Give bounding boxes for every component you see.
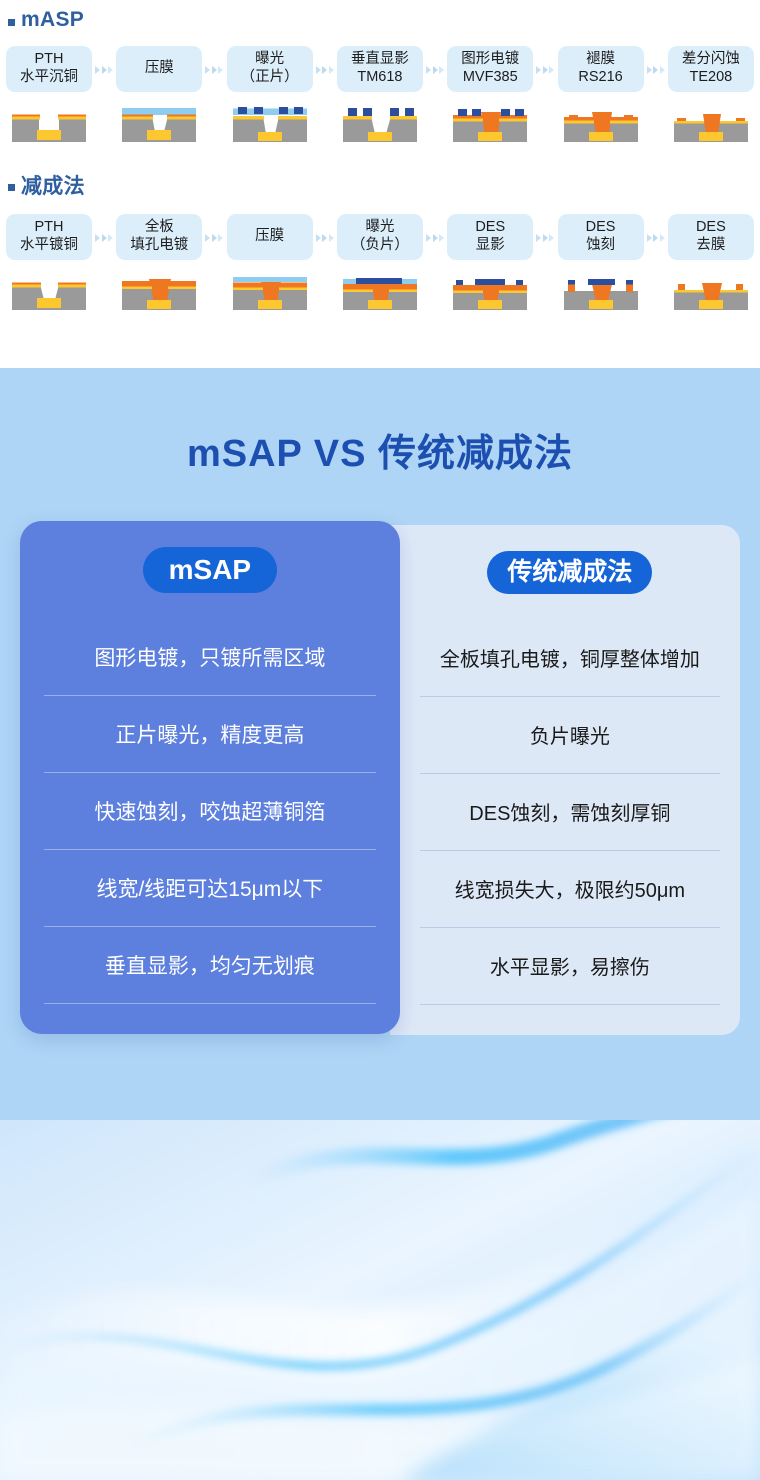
row-separator: [44, 1003, 376, 1004]
step-line1: DES: [586, 219, 616, 237]
card-msap-header: mSAP: [38, 547, 382, 593]
card-msap: mSAP 图形电镀，只镀所需区域 正片曝光，精度更高 快速蚀刻，咬蚀超薄铜箔 线…: [20, 521, 400, 1034]
step-line1: 压膜: [255, 228, 284, 246]
steps-row-msap: PTH 水平沉铜 压膜 曝光 （正片） 垂直: [0, 46, 760, 92]
row-separator: [420, 1004, 720, 1005]
step-line1: 差分闪蚀: [682, 51, 740, 69]
pcb-cross-section-diagram: [337, 272, 423, 316]
comparison-section: mSAP VS 传统减成法 mSAP 图形电镀，只镀所需区域 正片曝光，精度更高…: [0, 368, 760, 1480]
card-subtractive-header: 传统减成法: [416, 551, 724, 594]
step-box: PTH 水平镀铜: [6, 214, 92, 260]
flow-title: mASP: [21, 8, 84, 32]
bullet-square-icon: [8, 184, 15, 191]
arrow-right-icon: [205, 66, 223, 74]
step-line2: 水平沉铜: [20, 69, 78, 87]
flow-header-subtractive: 减成法: [0, 170, 760, 200]
step-cell[interactable]: 曝光 （正片）: [227, 46, 313, 92]
step-box: 全板 填孔电镀: [116, 214, 202, 260]
step-cell[interactable]: 压膜: [227, 214, 313, 260]
step-line1: 曝光: [255, 51, 284, 69]
step-box: DES 去膜: [668, 214, 754, 260]
step-box: 垂直显影 TM618: [337, 46, 423, 92]
arrow-right-icon: [316, 66, 334, 74]
decorative-wave-background: [0, 1120, 760, 1480]
diagrams-row-msap: [0, 104, 760, 148]
pill-badge-subtractive: 传统减成法: [487, 551, 652, 594]
step-line2: TE208: [690, 69, 733, 87]
pcb-cross-section-diagram: [558, 272, 644, 316]
feature-row: 垂直显影，均匀无划痕: [38, 927, 382, 1003]
step-box: 压膜: [116, 46, 202, 92]
pcb-cross-section-diagram: [668, 272, 754, 316]
feature-row: 线宽损失大，极限约50μm: [416, 851, 724, 927]
step-line1: DES: [475, 219, 505, 237]
pcb-cross-section-diagram: [337, 104, 423, 148]
step-line1: 图形电镀: [461, 51, 519, 69]
card-msap-rows: 图形电镀，只镀所需区域 正片曝光，精度更高 快速蚀刻，咬蚀超薄铜箔 线宽/线距可…: [38, 619, 382, 1004]
step-line2: 填孔电镀: [130, 237, 188, 255]
feature-row: 线宽/线距可达15μm以下: [38, 850, 382, 926]
step-cell[interactable]: 差分闪蚀 TE208: [668, 46, 754, 92]
pcb-cross-section-diagram: [447, 104, 533, 148]
pcb-cross-section-diagram: [227, 104, 313, 148]
pcb-cross-section-diagram: [116, 272, 202, 316]
step-cell[interactable]: PTH 水平镀铜: [6, 214, 92, 260]
step-line2: 去膜: [696, 237, 725, 255]
step-box: 差分闪蚀 TE208: [668, 46, 754, 92]
step-line2: RS216: [578, 69, 622, 87]
feature-row: 快速蚀刻，咬蚀超薄铜箔: [38, 773, 382, 849]
pcb-cross-section-diagram: [668, 104, 754, 148]
pcb-cross-section-diagram: [558, 104, 644, 148]
flow-section-subtractive: 减成法 PTH 水平镀铜 全板 填孔电镀 压膜: [0, 148, 760, 316]
step-cell[interactable]: 图形电镀 MVF385: [447, 46, 533, 92]
step-box: PTH 水平沉铜: [6, 46, 92, 92]
comparison-cards: mSAP 图形电镀，只镀所需区域 正片曝光，精度更高 快速蚀刻，咬蚀超薄铜箔 线…: [0, 521, 760, 1035]
step-line2: TM618: [357, 69, 402, 87]
step-cell[interactable]: 曝光 （负片）: [337, 214, 423, 260]
step-cell[interactable]: 全板 填孔电镀: [116, 214, 202, 260]
step-cell[interactable]: 褪膜 RS216: [558, 46, 644, 92]
step-line1: 垂直显影: [351, 51, 409, 69]
pcb-cross-section-diagram: [6, 104, 92, 148]
arrow-right-icon: [95, 234, 113, 242]
arrow-right-icon: [316, 234, 334, 242]
pcb-cross-section-diagram: [447, 272, 533, 316]
flow-section-msap: mASP PTH 水平沉铜 压膜 曝光 （正片）: [0, 0, 760, 148]
step-cell[interactable]: PTH 水平沉铜: [6, 46, 92, 92]
step-cell[interactable]: 垂直显影 TM618: [337, 46, 423, 92]
steps-row-subtractive: PTH 水平镀铜 全板 填孔电镀 压膜 曝光: [0, 214, 760, 260]
feature-row: 负片曝光: [416, 697, 724, 773]
step-box: 压膜: [227, 214, 313, 260]
arrow-right-icon: [647, 66, 665, 74]
step-line2: 蚀刻: [586, 237, 615, 255]
pill-badge-msap: mSAP: [143, 547, 277, 593]
feature-row: 水平显影，易擦伤: [416, 928, 724, 1004]
step-line1: 曝光: [365, 219, 394, 237]
step-cell[interactable]: 压膜: [116, 46, 202, 92]
step-cell[interactable]: DES 去膜: [668, 214, 754, 260]
diagrams-row-subtractive: [0, 272, 760, 316]
arrow-right-icon: [426, 66, 444, 74]
step-box: 图形电镀 MVF385: [447, 46, 533, 92]
arrow-right-icon: [426, 234, 444, 242]
step-line2: （负片）: [351, 237, 409, 255]
card-subtractive: 传统减成法 全板填孔电镀，铜厚整体增加 负片曝光 DES蚀刻，需蚀刻厚铜 线宽损…: [390, 525, 740, 1035]
step-line2: 水平镀铜: [20, 237, 78, 255]
arrow-right-icon: [536, 66, 554, 74]
feature-row: 全板填孔电镀，铜厚整体增加: [416, 620, 724, 696]
feature-row: DES蚀刻，需蚀刻厚铜: [416, 774, 724, 850]
pcb-cross-section-diagram: [227, 272, 313, 316]
step-cell[interactable]: DES 显影: [447, 214, 533, 260]
flow-title: 减成法: [21, 170, 85, 200]
step-box: DES 显影: [447, 214, 533, 260]
step-line1: 全板: [145, 219, 174, 237]
arrow-right-icon: [536, 234, 554, 242]
page-root: mASP PTH 水平沉铜 压膜 曝光 （正片）: [0, 0, 760, 1480]
step-line2: 显影: [476, 237, 505, 255]
feature-row: 正片曝光，精度更高: [38, 696, 382, 772]
step-line1: 褪膜: [586, 51, 615, 69]
pcb-cross-section-diagram: [6, 272, 92, 316]
step-box: 曝光 （负片）: [337, 214, 423, 260]
step-box: 曝光 （正片）: [227, 46, 313, 92]
comparison-title: mSAP VS 传统减成法: [0, 368, 760, 477]
arrow-right-icon: [95, 66, 113, 74]
step-cell[interactable]: DES 蚀刻: [558, 214, 644, 260]
step-line1: PTH: [35, 51, 64, 69]
step-box: 褪膜 RS216: [558, 46, 644, 92]
bullet-square-icon: [8, 19, 15, 26]
arrow-right-icon: [647, 234, 665, 242]
feature-row: 图形电镀，只镀所需区域: [38, 619, 382, 695]
step-line2: （正片）: [241, 69, 299, 87]
arrow-right-icon: [205, 234, 223, 242]
pcb-cross-section-diagram: [116, 104, 202, 148]
flow-header-msap: mASP: [0, 8, 760, 32]
step-line1: PTH: [35, 219, 64, 237]
step-line1: 压膜: [145, 60, 174, 78]
card-subtractive-rows: 全板填孔电镀，铜厚整体增加 负片曝光 DES蚀刻，需蚀刻厚铜 线宽损失大，极限约…: [416, 620, 724, 1005]
step-line1: DES: [696, 219, 726, 237]
step-box: DES 蚀刻: [558, 214, 644, 260]
step-line2: MVF385: [463, 69, 518, 87]
